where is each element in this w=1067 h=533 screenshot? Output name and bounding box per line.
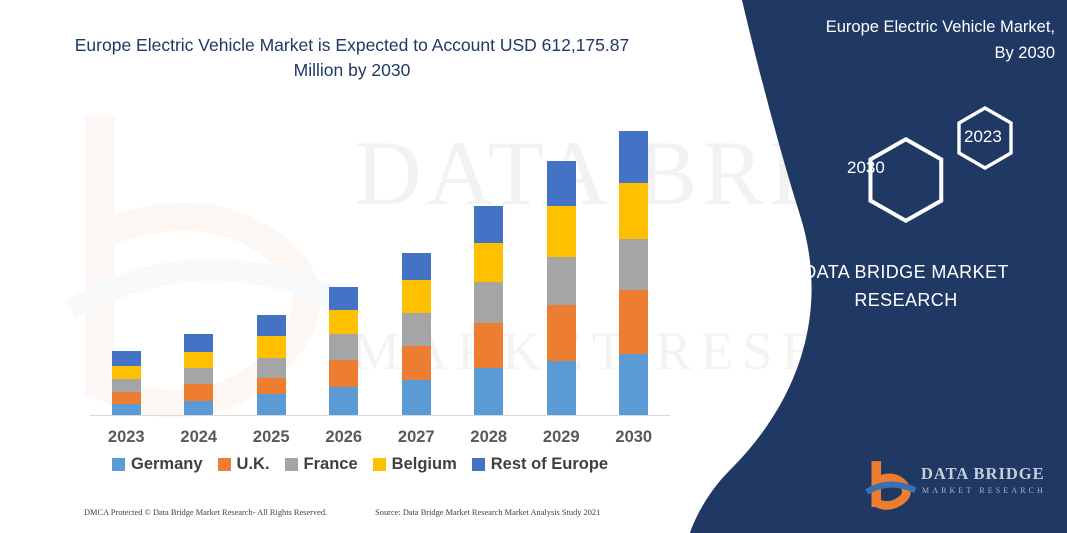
footer-source-text: Source: Data Bridge Market Research Mark… — [375, 508, 600, 517]
bar-segment-2026-belgium[interactable] — [329, 310, 358, 334]
legend-item-u-k[interactable]: U.K. — [218, 455, 270, 474]
bar-column-2028[interactable] — [474, 206, 503, 415]
legend-swatch-rest-of-europe — [472, 458, 485, 471]
data-bridge-logo-icon — [865, 460, 917, 510]
company-logo: DATA BRIDGE MARKET RESEARCH — [865, 458, 1050, 514]
x-tick-label-2027: 2027 — [381, 428, 451, 447]
bar-segment-2026-u-k[interactable] — [329, 360, 358, 388]
bar-segment-2023-u-k[interactable] — [112, 392, 141, 404]
brand-name-line1: DATA BRIDGE MARKET — [756, 258, 1056, 286]
bar-column-2030[interactable] — [619, 131, 648, 415]
legend-label-belgium: Belgium — [392, 455, 457, 474]
bar-segment-2029-belgium[interactable] — [547, 206, 576, 257]
bar-segment-2025-u-k[interactable] — [257, 378, 286, 393]
x-tick-label-2023: 2023 — [91, 428, 161, 447]
bar-segment-2029-u-k[interactable] — [547, 305, 576, 361]
bar-segment-2025-france[interactable] — [257, 358, 286, 378]
legend-item-germany[interactable]: Germany — [112, 455, 203, 474]
bar-segment-2030-rest-of-europe[interactable] — [619, 131, 648, 183]
chart-title: Europe Electric Vehicle Market is Expect… — [72, 33, 632, 83]
legend-label-germany: Germany — [131, 455, 203, 474]
x-tick-label-2026: 2026 — [309, 428, 379, 447]
infographic-root: DATA BRIDGE MARKET RESEARCH Europe Elect… — [0, 0, 1067, 533]
bar-segment-2029-germany[interactable] — [547, 361, 576, 415]
bar-segment-2030-u-k[interactable] — [619, 290, 648, 353]
panel-title-line2: By 2030 — [757, 40, 1055, 66]
legend-item-france[interactable]: France — [285, 455, 358, 474]
footer-dmca-text: DMCA Protected © Data Bridge Market Rese… — [84, 508, 327, 517]
brand-name-line2: RESEARCH — [756, 286, 1056, 314]
panel-title: Europe Electric Vehicle Market, By 2030 — [757, 14, 1055, 66]
bar-segment-2027-u-k[interactable] — [402, 346, 431, 381]
bar-segment-2024-rest-of-europe[interactable] — [184, 334, 213, 351]
bar-segment-2027-germany[interactable] — [402, 380, 431, 415]
x-tick-label-2029: 2029 — [526, 428, 596, 447]
bar-column-2024[interactable] — [184, 334, 213, 415]
chart-panel: Europe Electric Vehicle Market is Expect… — [0, 0, 760, 533]
bar-column-2023[interactable] — [112, 351, 141, 415]
bar-segment-2028-germany[interactable] — [474, 368, 503, 415]
bar-segment-2028-rest-of-europe[interactable] — [474, 206, 503, 243]
legend-label-u-k: U.K. — [237, 455, 270, 474]
legend-item-belgium[interactable]: Belgium — [373, 455, 457, 474]
bar-segment-2026-rest-of-europe[interactable] — [329, 287, 358, 309]
footer: DMCA Protected © Data Bridge Market Rese… — [84, 508, 684, 517]
bar-column-2029[interactable] — [547, 161, 576, 415]
bar-segment-2023-rest-of-europe[interactable] — [112, 351, 141, 366]
bar-segment-2027-france[interactable] — [402, 313, 431, 346]
bar-segment-2028-belgium[interactable] — [474, 243, 503, 283]
hexagon-badges: 2030 2023 — [815, 98, 1055, 223]
chart-legend: GermanyU.K.FranceBelgiumRest of Europe — [112, 455, 608, 474]
bar-segment-2023-germany[interactable] — [112, 404, 141, 415]
bar-segment-2030-germany[interactable] — [619, 354, 648, 415]
legend-swatch-germany — [112, 458, 125, 471]
legend-swatch-france — [285, 458, 298, 471]
bar-segment-2023-belgium[interactable] — [112, 366, 141, 379]
hexagon-label-2023: 2023 — [964, 127, 1002, 147]
right-panel-content: Europe Electric Vehicle Market, By 2030 … — [745, 0, 1067, 533]
x-tick-label-2030: 2030 — [599, 428, 669, 447]
logo-text-main: DATA BRIDGE — [921, 464, 1045, 484]
bar-segment-2025-belgium[interactable] — [257, 336, 286, 357]
bar-segment-2030-france[interactable] — [619, 239, 648, 290]
legend-label-france: France — [304, 455, 358, 474]
x-tick-label-2028: 2028 — [454, 428, 524, 447]
bar-segment-2026-france[interactable] — [329, 334, 358, 360]
bar-segment-2026-germany[interactable] — [329, 387, 358, 415]
bar-segment-2027-rest-of-europe[interactable] — [402, 253, 431, 281]
bar-column-2027[interactable] — [402, 253, 431, 415]
legend-swatch-u-k — [218, 458, 231, 471]
legend-item-rest-of-europe[interactable]: Rest of Europe — [472, 455, 608, 474]
bar-segment-2024-u-k[interactable] — [184, 384, 213, 400]
legend-label-rest-of-europe: Rest of Europe — [491, 455, 608, 474]
bar-segment-2024-belgium[interactable] — [184, 352, 213, 368]
bar-segment-2024-france[interactable] — [184, 368, 213, 384]
panel-title-line1: Europe Electric Vehicle Market, — [757, 14, 1055, 40]
bar-segment-2029-rest-of-europe[interactable] — [547, 161, 576, 206]
x-axis-tick-labels: 20232024202520262027202820292030 — [90, 428, 670, 452]
bar-segment-2023-france[interactable] — [112, 379, 141, 391]
logo-text-sub: MARKET RESEARCH — [922, 486, 1046, 495]
bar-segment-2029-france[interactable] — [547, 257, 576, 305]
bar-segment-2028-france[interactable] — [474, 282, 503, 323]
hexagon-label-2030: 2030 — [847, 158, 885, 178]
bar-segment-2025-germany[interactable] — [257, 394, 286, 415]
bar-segment-2027-belgium[interactable] — [402, 280, 431, 313]
bar-segment-2024-germany[interactable] — [184, 401, 213, 415]
bar-column-2025[interactable] — [257, 315, 286, 415]
brand-name: DATA BRIDGE MARKET RESEARCH — [756, 258, 1056, 314]
chart-plot-area — [90, 120, 670, 416]
x-tick-label-2024: 2024 — [164, 428, 234, 447]
x-tick-label-2025: 2025 — [236, 428, 306, 447]
x-axis-line — [90, 415, 670, 416]
bar-segment-2030-belgium[interactable] — [619, 183, 648, 239]
bar-segment-2028-u-k[interactable] — [474, 323, 503, 368]
legend-swatch-belgium — [373, 458, 386, 471]
bar-segment-2025-rest-of-europe[interactable] — [257, 315, 286, 336]
bar-column-2026[interactable] — [329, 287, 358, 415]
